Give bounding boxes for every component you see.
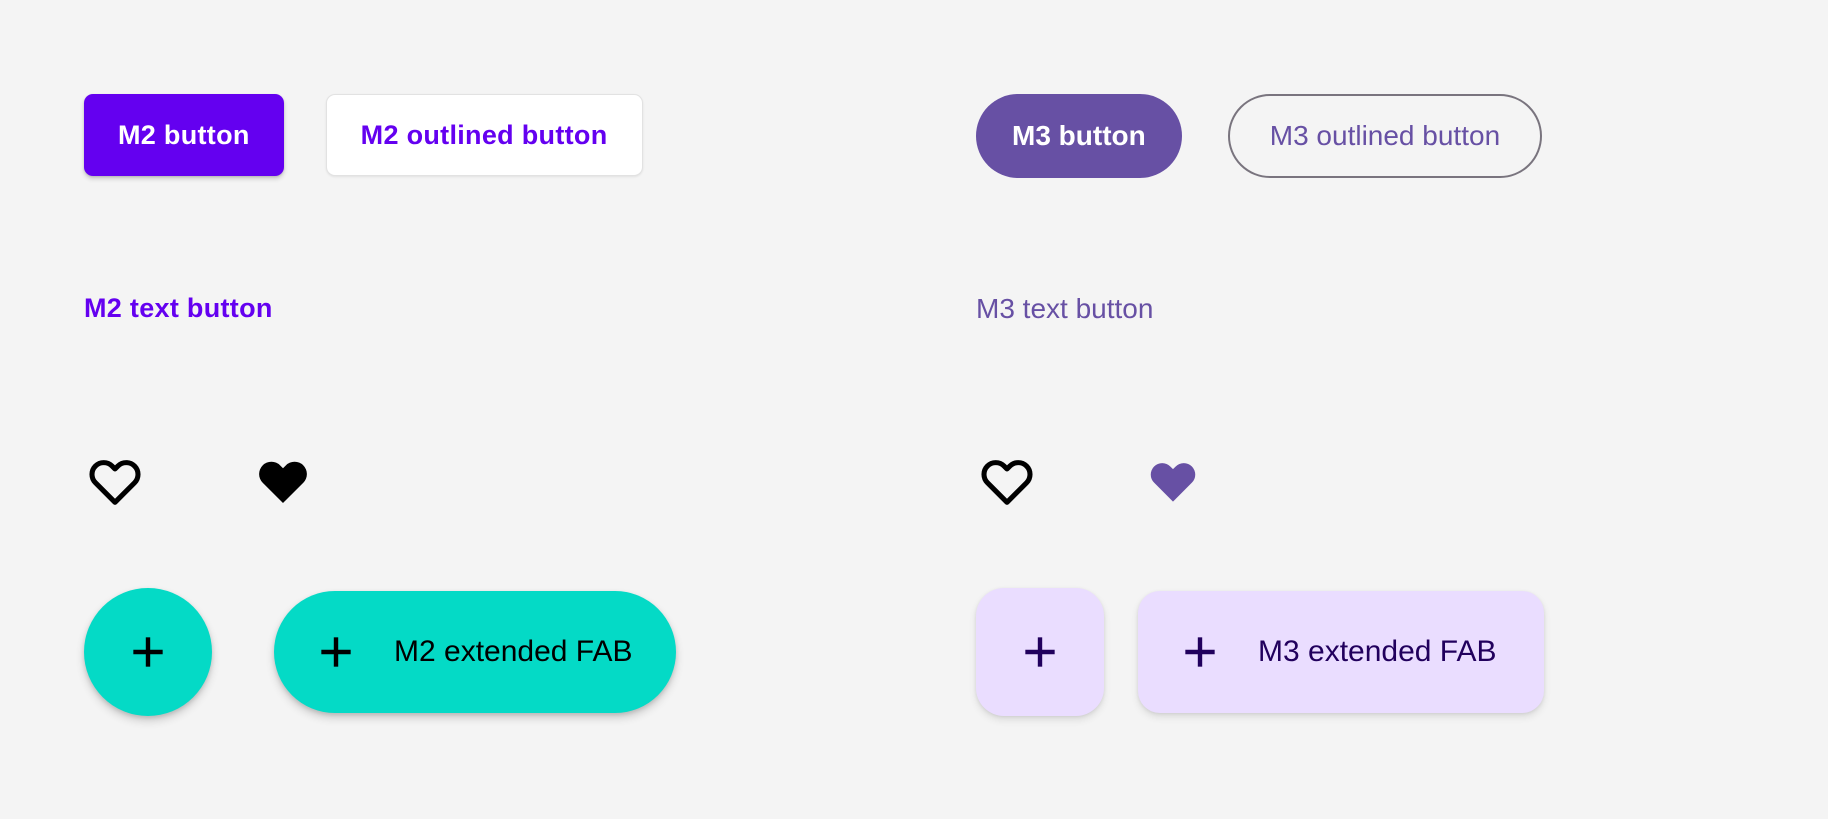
- m2-filled-button[interactable]: M2 button: [84, 94, 284, 176]
- m3-heart-outline-icon[interactable]: [976, 453, 1038, 511]
- m3-fab-row: M3 extended FAB: [976, 588, 1544, 716]
- m3-heart-filled-icon[interactable]: [1144, 455, 1202, 509]
- m2-heart-filled-icon[interactable]: [252, 453, 314, 511]
- m3-extended-fab[interactable]: M3 extended FAB: [1138, 591, 1544, 713]
- m2-column: M2 button M2 outlined button M2 text but…: [0, 0, 914, 819]
- m3-icons-row: [976, 453, 1202, 511]
- plus-icon: [1018, 630, 1062, 674]
- m2-extended-fab-label: M2 extended FAB: [394, 635, 632, 669]
- m2-outlined-button[interactable]: M2 outlined button: [326, 94, 643, 176]
- m3-text-button-row: M3 text button: [976, 293, 1153, 325]
- m2-icons-row: [84, 453, 314, 511]
- m2-heart-outline-icon[interactable]: [84, 453, 146, 511]
- m2-fab-row: M2 extended FAB: [84, 588, 676, 716]
- m3-filled-button[interactable]: M3 button: [976, 94, 1182, 178]
- m2-buttons-row: M2 button M2 outlined button: [84, 94, 643, 176]
- plus-icon: [314, 630, 358, 674]
- m3-text-button[interactable]: M3 text button: [976, 293, 1153, 325]
- plus-icon: [1178, 630, 1222, 674]
- m3-column: M3 button M3 outlined button M3 text but…: [914, 0, 1828, 819]
- m3-outlined-button[interactable]: M3 outlined button: [1228, 94, 1542, 178]
- m3-fab[interactable]: [976, 588, 1104, 716]
- m2-text-button[interactable]: M2 text button: [84, 293, 273, 324]
- m2-text-button-row: M2 text button: [84, 293, 273, 324]
- m2-fab[interactable]: [84, 588, 212, 716]
- component-showcase: M2 button M2 outlined button M2 text but…: [0, 0, 1828, 819]
- m2-extended-fab[interactable]: M2 extended FAB: [274, 591, 676, 713]
- plus-icon: [126, 630, 170, 674]
- m3-extended-fab-label: M3 extended FAB: [1258, 635, 1496, 669]
- m3-buttons-row: M3 button M3 outlined button: [976, 94, 1542, 178]
